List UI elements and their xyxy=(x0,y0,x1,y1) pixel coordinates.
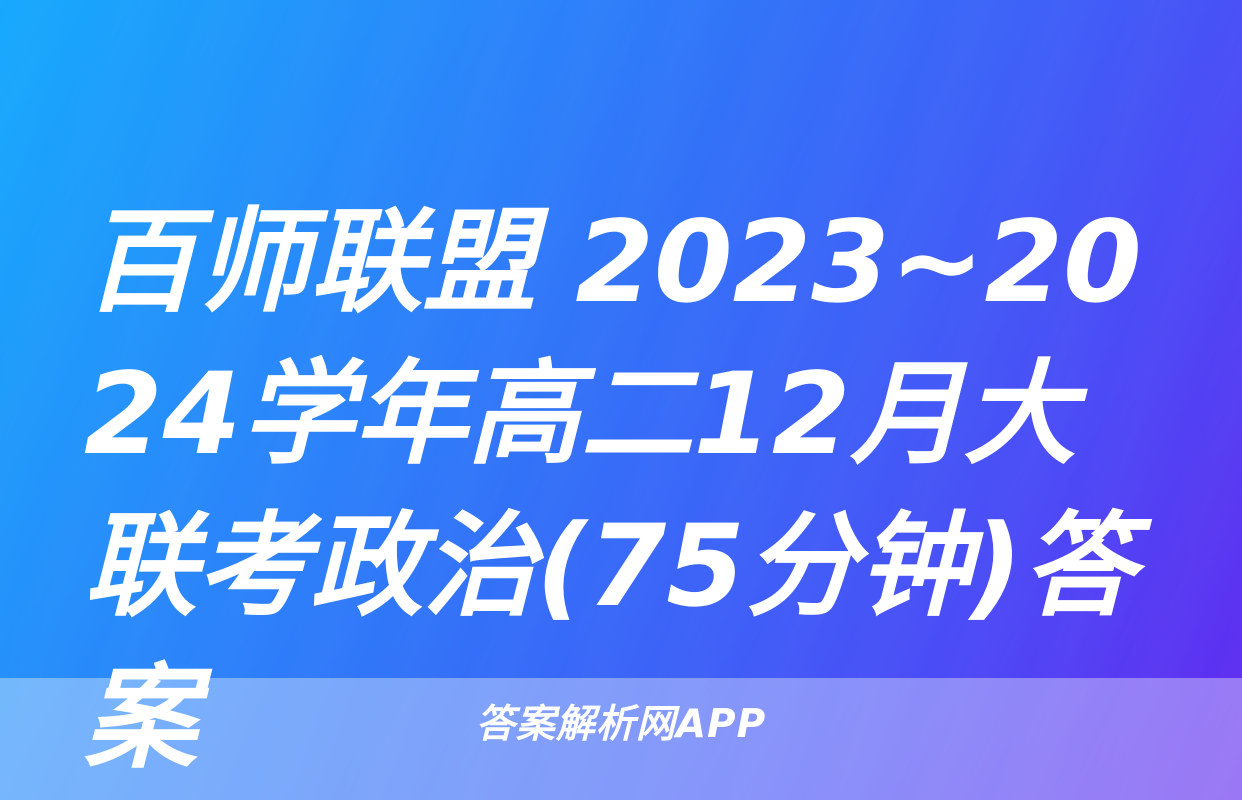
poster-canvas: 百师联盟 2023~2024学年高二12月大联考政治(75分钟)答案 答案解析网… xyxy=(0,0,1242,800)
app-watermark-label: 答案解析网APP xyxy=(476,705,766,744)
footer-watermark-band: 答案解析网APP xyxy=(0,678,1242,800)
